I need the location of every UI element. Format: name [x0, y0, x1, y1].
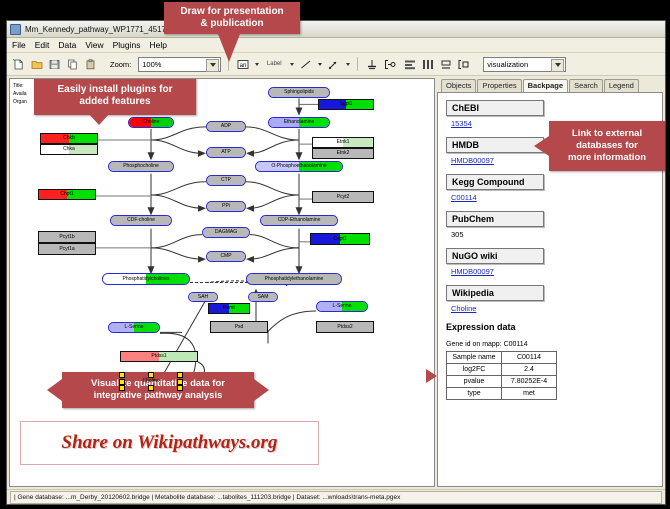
- gene-node[interactable]: Chpt1: [38, 189, 96, 200]
- metabolite-node[interactable]: Phosphatidylcholines: [102, 273, 190, 285]
- line-icon[interactable]: [299, 58, 312, 71]
- screenshot-root: Mm_Kennedy_pathway_WP1771_45176.gpml Fil…: [0, 0, 670, 509]
- metabolite-node[interactable]: L-Serine: [108, 322, 160, 333]
- menu-item-file[interactable]: File: [12, 40, 26, 50]
- copy-icon[interactable]: [66, 58, 79, 71]
- gene-node-label: Ptdss1: [151, 354, 166, 359]
- database-name-box: ChEBI: [446, 100, 544, 116]
- gene-node[interactable]: Pemt: [208, 303, 250, 314]
- metabolite-node-label: ATP: [221, 150, 230, 155]
- metabolite-node-label: L-Serine: [125, 325, 144, 330]
- menu-item-edit[interactable]: Edit: [35, 40, 50, 50]
- status-text: | Gene database: ...m_Derby_20120602.bri…: [10, 491, 662, 504]
- metabolite-node[interactable]: ATP: [206, 147, 246, 158]
- metabolite-node[interactable]: PPi: [206, 201, 246, 212]
- new-icon[interactable]: [12, 58, 25, 71]
- gene-node[interactable]: Psd: [210, 321, 268, 333]
- gene-node-label: Chka: [63, 147, 75, 152]
- database-link[interactable]: Choline: [451, 304, 654, 313]
- metabolite-node[interactable]: Sphingolipids: [268, 87, 330, 98]
- table-row: Sample nameC00114: [447, 352, 557, 364]
- database-value: 305: [451, 230, 654, 239]
- database-name-box: Wikipedia: [446, 285, 544, 301]
- metabolite-node[interactable]: Phosphatidylethanolamine: [246, 273, 342, 285]
- metabolite-node-label: Ethanolamine: [284, 120, 315, 125]
- metabolite-node-label: SAH: [198, 295, 208, 300]
- share-banner: Share on Wikipathways.org: [20, 421, 319, 465]
- expression-value: C00114: [502, 352, 557, 364]
- metabolite-node[interactable]: DAGMAG: [202, 227, 250, 238]
- zoom-value: 100%: [142, 60, 161, 69]
- distribute-icon[interactable]: [421, 58, 434, 71]
- expression-value: met: [502, 388, 557, 400]
- metabolite-node[interactable]: O-Phosphoethanolamine: [255, 161, 343, 172]
- metabolite-node-label: Phosphatidylcholines: [123, 277, 170, 282]
- callout-install-plugins: Easily install plugins for added feature…: [34, 78, 196, 115]
- zoom-label: Zoom:: [110, 60, 131, 69]
- expression-key: log2FC: [447, 364, 502, 376]
- toolbar: Zoom: 100% an Label: [7, 53, 665, 76]
- zoom-combo[interactable]: 100%: [138, 57, 221, 72]
- selection-handle[interactable]: [148, 372, 154, 378]
- metabolite-node-label: O-Phosphoethanolamine: [271, 164, 326, 169]
- gene-node-label: Pcyt2: [337, 195, 350, 200]
- table-row: log2FC2.4: [447, 364, 557, 376]
- callout-visualize-data-arrow-right: [254, 379, 269, 401]
- metabolite-node[interactable]: CMP: [206, 251, 246, 262]
- gene-node-label: Pcyt1b: [59, 235, 74, 240]
- gene-node[interactable]: Pcyt2: [312, 191, 374, 203]
- status-bar: | Gene database: ...m_Derby_20120602.bri…: [7, 489, 665, 504]
- gene-node-label: Etnk2: [337, 151, 350, 156]
- metabolite-node-label: PPi: [222, 204, 230, 209]
- selection-handle[interactable]: [177, 372, 183, 378]
- metabolite-node-label: SAM: [258, 295, 269, 300]
- svg-text:an: an: [239, 63, 246, 69]
- gene-node[interactable]: Pcyt1a: [38, 243, 96, 255]
- stack-icon[interactable]: [439, 58, 452, 71]
- anchor-icon[interactable]: [365, 58, 378, 71]
- gene-node[interactable]: Ptdss1: [120, 351, 198, 362]
- pathway-organism-label: Organ: [13, 99, 27, 105]
- expression-key: Sample name: [447, 352, 502, 364]
- expression-key: type: [447, 388, 502, 400]
- metabolite-node[interactable]: CDP-Ethanolamine: [260, 215, 338, 226]
- metabolite-node-label: CDF-choline: [127, 218, 155, 223]
- metabolite-node[interactable]: Ethanolamine: [268, 117, 330, 128]
- callout-draw-publication-text: Draw for presentation & publication: [180, 6, 283, 31]
- metabolite-node-label: CTP: [221, 178, 231, 183]
- table-row: typemet: [447, 388, 557, 400]
- paste-icon[interactable]: [84, 58, 97, 71]
- tab-objects[interactable]: Objects: [441, 79, 476, 92]
- visualization-combo[interactable]: visualization: [483, 57, 566, 72]
- callout-external-links-text: Link to external databases for more info…: [568, 128, 646, 164]
- gene-node-label: Sgpl1: [340, 102, 353, 107]
- callout-external-links-arrow: [534, 136, 549, 156]
- gene-id-label: Gene id on mapp: C00114: [446, 341, 654, 348]
- expression-heading: Expression data: [446, 322, 654, 332]
- gene-node-label: Psd: [235, 325, 244, 330]
- metabolite-node-label: CMP: [220, 254, 231, 259]
- gene-node-label: Etnk1: [337, 140, 350, 145]
- metabolite-node-label: ADP: [221, 124, 231, 129]
- metabolite-node[interactable]: SAM: [248, 292, 278, 302]
- callout-draw-publication-arrow: [218, 34, 240, 62]
- gene-node[interactable]: Sgpl1: [318, 99, 374, 110]
- callout-external-links: Link to external databases for more info…: [549, 121, 665, 171]
- arrow-icon[interactable]: [327, 58, 340, 71]
- callout-draw-publication: Draw for presentation & publication: [164, 2, 300, 34]
- text-dropdown-icon[interactable]: [255, 63, 259, 66]
- expression-value: 2.4: [502, 364, 557, 376]
- metabolite-node[interactable]: ADP: [206, 121, 246, 132]
- pathway-canvas[interactable]: Title: Availa Organ: [9, 78, 435, 487]
- gene-node-label: Pemt: [223, 306, 235, 311]
- open-icon[interactable]: [30, 58, 43, 71]
- gene-node[interactable]: Ptdss2: [316, 321, 374, 333]
- tab-properties[interactable]: Properties: [477, 79, 521, 92]
- database-name-box: HMDB: [446, 137, 544, 153]
- selection-handle[interactable]: [177, 379, 183, 385]
- metabolite-node-label: Phosphocholine: [123, 164, 159, 169]
- expression-table: Sample nameC00114log2FC2.4pvalue7.80252E…: [446, 351, 557, 400]
- metabolite-node[interactable]: CTP: [206, 175, 246, 186]
- selected-node-label: Choline: [143, 379, 160, 384]
- menu-item-plugins[interactable]: Plugins: [113, 40, 141, 50]
- gene-node-label: Ptdss2: [337, 325, 352, 330]
- callout-visualize-data-arrow-left: [47, 379, 62, 401]
- tab-backpage[interactable]: Backpage: [523, 79, 568, 92]
- selection-handle[interactable]: [177, 385, 183, 391]
- expression-value: 7.80252E-4: [502, 376, 557, 388]
- visualization-value: visualization: [487, 60, 528, 69]
- metabolite-node-label: L-Serine: [333, 304, 352, 309]
- metabolite-node[interactable]: Choline: [128, 117, 174, 128]
- tab-search[interactable]: Search: [569, 79, 603, 92]
- pathway-title-label: Title:: [13, 83, 24, 89]
- line-dropdown-icon[interactable]: [318, 63, 322, 66]
- gene-node-label: Cept1: [333, 237, 346, 242]
- callout-expression-arrow: [426, 369, 437, 383]
- database-name-box: Kegg Compound: [446, 174, 544, 190]
- save-icon[interactable]: [48, 58, 61, 71]
- metabolite-node-label: Sphingolipids: [284, 90, 314, 95]
- title-bar: Mm_Kennedy_pathway_WP1771_45176.gpml: [7, 21, 665, 38]
- selection-handle[interactable]: [148, 385, 154, 391]
- label-icon[interactable]: Label: [264, 58, 284, 71]
- selection-handle[interactable]: [119, 385, 125, 391]
- menu-bar: File Edit Data View Plugins Help: [7, 38, 665, 53]
- selection-handle[interactable]: [119, 372, 125, 378]
- metabolite-node-label: CDP-Ethanolamine: [278, 218, 321, 223]
- pathway-availability-label: Availa: [13, 91, 27, 97]
- database-name-box: PubChem: [446, 211, 544, 227]
- callout-install-plugins-arrow: [88, 113, 110, 125]
- app-icon: [10, 24, 21, 35]
- menu-item-data[interactable]: Data: [58, 40, 76, 50]
- gene-node[interactable]: Chka: [40, 144, 98, 155]
- bracket-icon[interactable]: [383, 58, 398, 71]
- order-icon[interactable]: [457, 58, 470, 71]
- label-dropdown-icon[interactable]: [290, 63, 294, 66]
- gene-node[interactable]: Etnk2: [312, 148, 374, 159]
- visualization-chevron-down-icon[interactable]: [551, 59, 564, 72]
- gene-node[interactable]: Cept1: [310, 233, 370, 245]
- database-name-box: NuGO wiki: [446, 248, 544, 264]
- application-window: Mm_Kennedy_pathway_WP1771_45176.gpml Fil…: [6, 20, 666, 505]
- metabolite-node-label: DAGMAG: [215, 230, 237, 235]
- gene-node[interactable]: Etnk1: [312, 137, 374, 148]
- database-link[interactable]: C00114: [451, 193, 654, 202]
- gene-node-label: Pcyt1a: [59, 247, 74, 252]
- metabolite-node[interactable]: Phosphocholine: [108, 161, 174, 172]
- arrow-dropdown-icon[interactable]: [346, 63, 350, 66]
- metabolite-node-label: Phosphatidylethanolamine: [265, 277, 324, 282]
- expression-key: pvalue: [447, 376, 502, 388]
- metabolite-node[interactable]: SAH: [188, 292, 218, 302]
- metabolite-node[interactable]: L-Serine: [316, 301, 368, 312]
- menu-item-help[interactable]: Help: [150, 40, 167, 50]
- toolbar-separator-2: [357, 57, 358, 71]
- align-icon[interactable]: [403, 58, 416, 71]
- database-link[interactable]: HMDB00097: [451, 267, 654, 276]
- callout-install-plugins-text: Easily install plugins for added feature…: [57, 84, 172, 109]
- gene-node-label: Chpt1: [60, 192, 73, 197]
- metabolite-node-label: Choline: [143, 120, 160, 125]
- menu-item-view[interactable]: View: [85, 40, 103, 50]
- gene-node[interactable]: Pcyt1b: [38, 231, 96, 243]
- selection-handle[interactable]: [119, 379, 125, 385]
- gene-node-label: Chkb: [63, 136, 75, 141]
- share-banner-text: Share on Wikipathways.org: [62, 432, 278, 454]
- table-row: pvalue7.80252E-4: [447, 376, 557, 388]
- side-panel-tabs: ObjectsPropertiesBackpageSearchLegend: [437, 78, 663, 92]
- metabolite-node[interactable]: CDF-choline: [110, 215, 172, 226]
- gene-node[interactable]: Chkb: [40, 133, 98, 144]
- tab-legend[interactable]: Legend: [604, 79, 639, 92]
